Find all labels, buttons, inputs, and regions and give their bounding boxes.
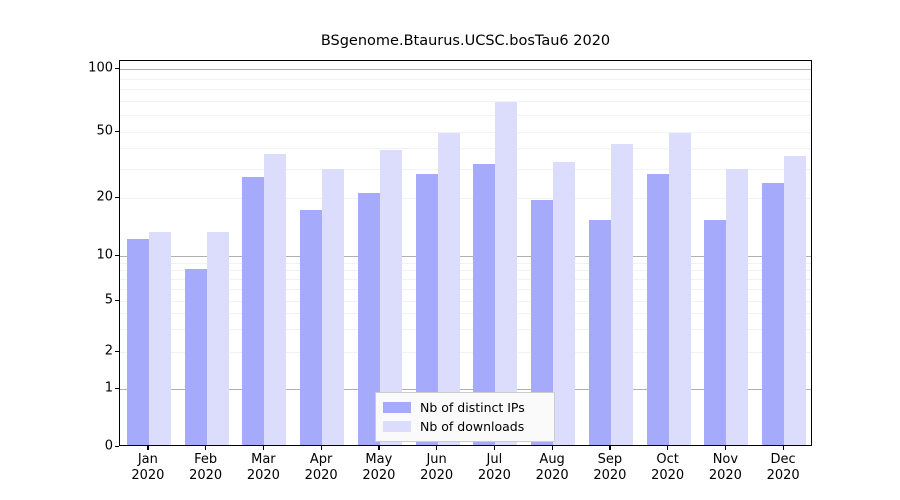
x-axis-tick-label: Aug2020 — [536, 452, 569, 484]
gridline-major — [120, 69, 811, 70]
bar-downloads — [322, 169, 344, 445]
y-axis-tick-label: 10 — [96, 248, 113, 263]
x-axis-tick-year: 2020 — [536, 468, 569, 484]
x-axis-tick-month: Dec — [767, 452, 800, 468]
x-axis-tick-label: Dec2020 — [767, 452, 800, 484]
x-axis-tick-month: May — [362, 452, 395, 468]
x-axis-tick-label: Feb2020 — [189, 452, 222, 484]
x-axis-tick-mark — [494, 446, 495, 450]
x-axis-tick-mark — [147, 446, 148, 450]
bar-distinct-ips — [589, 220, 611, 445]
y-axis-tick-label: 1 — [105, 381, 113, 396]
x-axis-tick-label: Jul2020 — [478, 452, 511, 484]
y-axis-tick-label: 50 — [96, 124, 113, 139]
x-axis-tick-label: Apr2020 — [305, 452, 338, 484]
x-axis-tick-mark — [263, 446, 264, 450]
y-axis-tick-mark — [115, 351, 119, 352]
bar-distinct-ips — [127, 239, 149, 445]
x-axis-tick-mark — [609, 446, 610, 450]
x-axis-tick-year: 2020 — [709, 468, 742, 484]
x-axis-tick-year: 2020 — [651, 468, 684, 484]
y-axis-tick-mark — [115, 131, 119, 132]
x-axis-tick-year: 2020 — [420, 468, 453, 484]
gridline-minor — [120, 115, 811, 116]
y-axis-tick-label: 100 — [88, 61, 113, 76]
bar-downloads — [553, 162, 575, 445]
x-axis-tick-year: 2020 — [362, 468, 395, 484]
bar-distinct-ips — [242, 177, 264, 445]
plot-area — [119, 60, 812, 446]
y-axis-tick-labels: 0125102050100 — [69, 0, 113, 500]
x-axis-tick-label: Sep2020 — [593, 452, 626, 484]
y-axis-tick-mark — [115, 255, 119, 256]
chart-figure: BSgenome.Btaurus.UCSC.bosTau6 2020 01251… — [0, 0, 900, 500]
x-axis-tick-mark — [205, 446, 206, 450]
x-axis-tick-year: 2020 — [767, 468, 800, 484]
x-axis-tick-month: Feb — [189, 452, 222, 468]
y-axis-tick-mark — [115, 300, 119, 301]
bar-distinct-ips — [185, 269, 207, 446]
legend-item-downloads: Nb of downloads — [383, 417, 547, 436]
gridline-minor — [120, 169, 811, 170]
gridline-minor — [120, 89, 811, 90]
x-axis-tick-year: 2020 — [247, 468, 280, 484]
x-axis-tick-month: Nov — [709, 452, 742, 468]
y-axis-tick-mark — [115, 388, 119, 389]
legend-swatch-downloads-icon — [383, 421, 411, 432]
bar-distinct-ips — [647, 174, 669, 445]
bar-downloads — [149, 232, 171, 445]
gridline-minor — [120, 79, 811, 80]
x-axis-tick-mark — [552, 446, 553, 450]
bar-distinct-ips — [300, 210, 322, 445]
bar-downloads — [207, 232, 229, 445]
y-axis-tick-label: 0 — [105, 439, 113, 454]
y-axis-tick-label: 20 — [96, 190, 113, 205]
x-axis-tick-mark — [783, 446, 784, 450]
x-axis-tick-label: Jun2020 — [420, 452, 453, 484]
x-axis-tick-month: Aug — [536, 452, 569, 468]
bar-downloads — [784, 156, 806, 445]
gridline-minor — [120, 198, 811, 199]
x-axis-tick-year: 2020 — [593, 468, 626, 484]
x-axis-tick-year: 2020 — [305, 468, 338, 484]
legend-label-ips: Nb of distinct IPs — [420, 400, 525, 415]
x-axis-tick-month: Jul — [478, 452, 511, 468]
gridline-minor — [120, 148, 811, 149]
x-axis-tick-month: Mar — [247, 452, 280, 468]
chart-title: BSgenome.Btaurus.UCSC.bosTau6 2020 — [119, 33, 812, 49]
y-axis-tick-label: 5 — [105, 293, 113, 308]
gridline-minor — [120, 101, 811, 102]
x-axis-tick-mark — [667, 446, 668, 450]
gridline-minor — [120, 132, 811, 133]
y-axis-tick-mark — [115, 446, 119, 447]
bar-downloads — [264, 154, 286, 445]
x-axis-tick-mark — [378, 446, 379, 450]
x-axis-tick-label: Oct2020 — [651, 452, 684, 484]
x-axis-tick-label: May2020 — [362, 452, 395, 484]
legend-label-downloads: Nb of downloads — [420, 419, 524, 434]
bar-downloads — [611, 144, 633, 445]
x-axis-tick-label: Jan2020 — [131, 452, 164, 484]
x-axis-tick-year: 2020 — [189, 468, 222, 484]
x-axis-tick-year: 2020 — [131, 468, 164, 484]
x-axis-tick-year: 2020 — [478, 468, 511, 484]
x-axis-tick-mark — [725, 446, 726, 450]
x-axis-tick-month: Jun — [420, 452, 453, 468]
x-axis-tick-label: Nov2020 — [709, 452, 742, 484]
bar-downloads — [669, 133, 691, 445]
x-axis-tick-month: Apr — [305, 452, 338, 468]
y-axis-tick-mark — [115, 197, 119, 198]
legend-item-ips: Nb of distinct IPs — [383, 398, 547, 417]
chart-legend: Nb of distinct IPs Nb of downloads — [375, 392, 555, 442]
x-axis-tick-month: Sep — [593, 452, 626, 468]
x-axis-tick-mark — [321, 446, 322, 450]
bar-distinct-ips — [704, 220, 726, 445]
y-axis-tick-mark — [115, 68, 119, 69]
bar-downloads — [726, 169, 748, 445]
y-axis-tick-label: 2 — [105, 344, 113, 359]
x-axis-tick-label: Mar2020 — [247, 452, 280, 484]
x-axis-tick-month: Oct — [651, 452, 684, 468]
bar-distinct-ips — [762, 183, 784, 445]
x-axis-tick-mark — [436, 446, 437, 450]
x-axis-tick-month: Jan — [131, 452, 164, 468]
legend-swatch-ips-icon — [383, 402, 411, 413]
